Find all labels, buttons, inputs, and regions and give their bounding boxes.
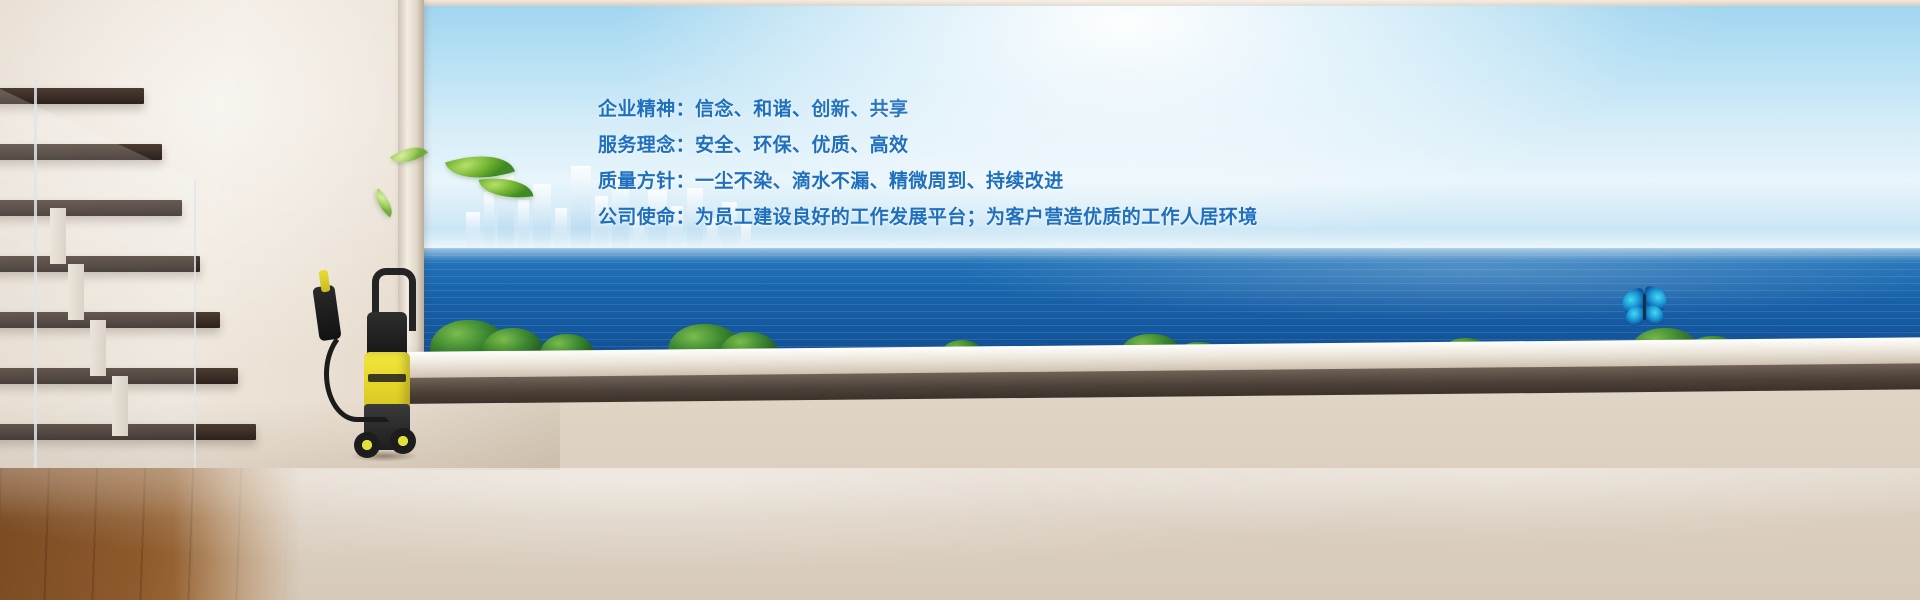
washer-spray-trigger [319,269,331,292]
hero-banner: 企业精神：信念、和谐、创新、共享 服务理念：安全、环保、优质、高效 质量方针：一… [0,0,1920,600]
washer-wheel [390,428,416,454]
wooden-floor-dark-area [0,468,300,600]
window-frame-top [398,0,1920,6]
butterfly-icon [1622,288,1668,330]
washer-spray-gun [312,285,341,342]
slogan-line-3: 质量方针：一尘不染、滴水不漏、精微周到、持续改进 [598,164,1358,200]
pressure-washer-icon [310,252,420,462]
slogan-line-4: 公司使命：为员工建设良好的工作发展平台；为客户营造优质的工作人居环境 [598,200,1358,236]
slogan-text-block: 企业精神：信念、和谐、创新、共享 服务理念：安全、环保、优质、高效 质量方针：一… [598,92,1358,236]
washer-hose [324,326,390,422]
staircase-icon [0,88,220,488]
slogan-line-2: 服务理念：安全、环保、优质、高效 [598,128,1358,164]
washer-wheel [354,432,380,458]
slogan-line-1: 企业精神：信念、和谐、创新、共享 [598,92,1358,128]
